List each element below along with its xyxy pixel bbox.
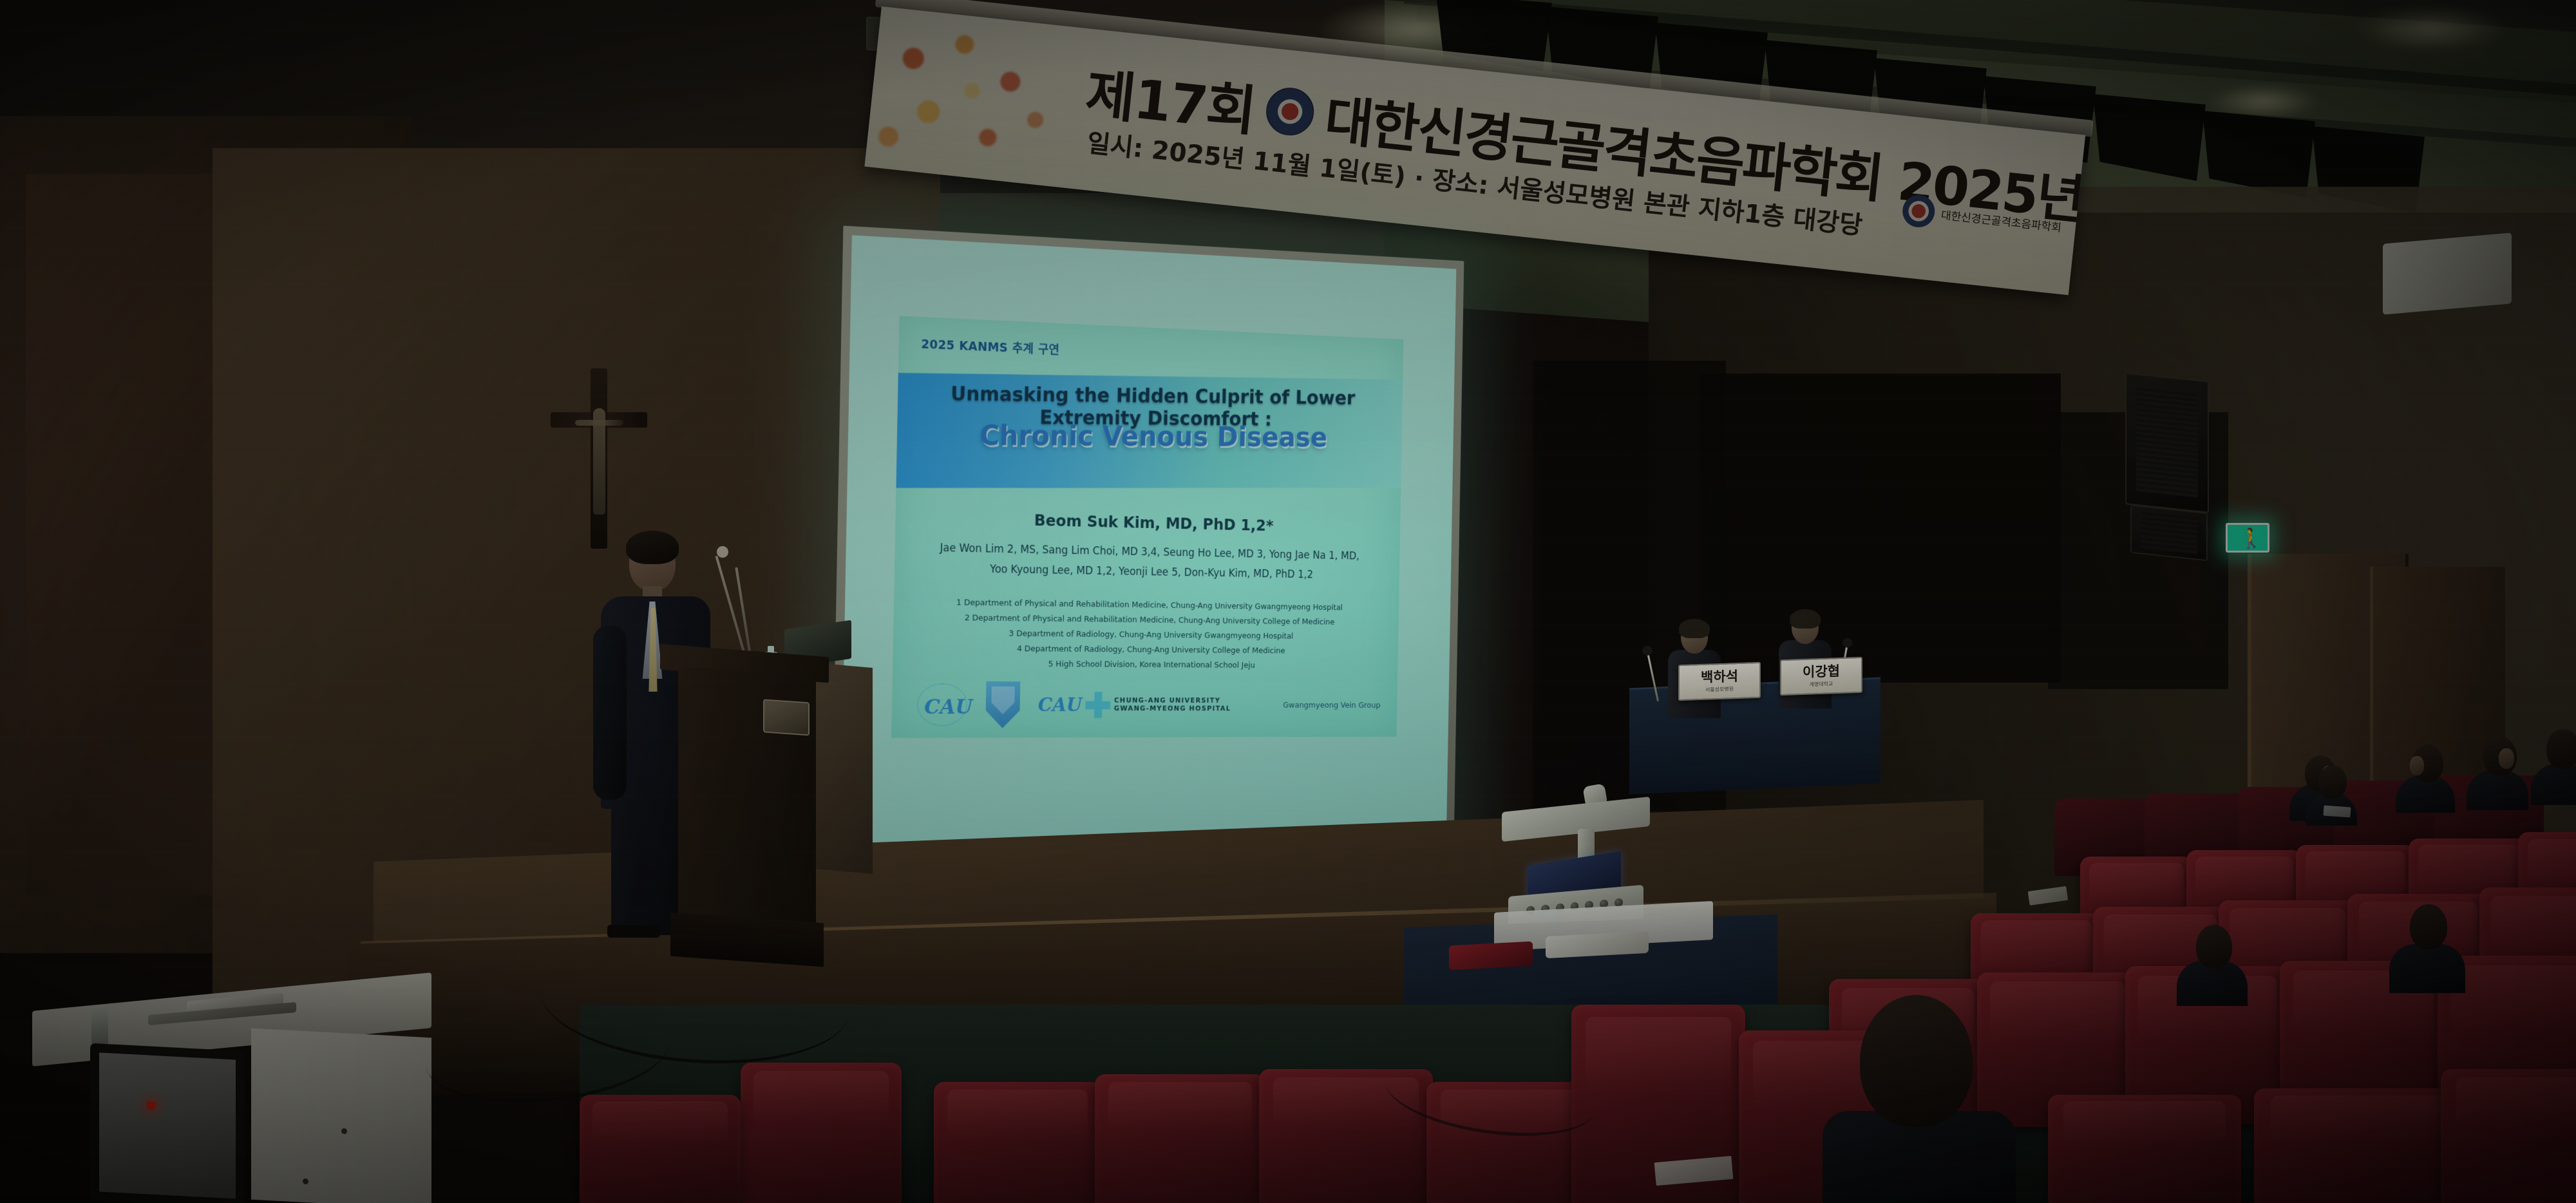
affiliation: 3 Department of Radiology, Chung-Ang Uni… (893, 628, 1398, 642)
crucifix-icon (551, 368, 647, 549)
nameplate-name: 이강협 (1803, 664, 1840, 679)
autumn-leaves-graphic (864, 6, 1086, 189)
audience-member (2177, 921, 2248, 1005)
affiliation: 2 Department of Physical and Rehabilitat… (894, 612, 1399, 627)
podium (667, 650, 828, 972)
audience-member (2389, 902, 2465, 992)
power-led-indicator (147, 1101, 155, 1110)
seat[interactable] (1095, 1074, 1265, 1203)
presenter-shoe (607, 925, 660, 938)
cau-seal-label: CAU (924, 694, 972, 719)
wall-recess (1700, 374, 2061, 683)
nameplate-name: 백하석 (1701, 669, 1738, 684)
nameplate-affiliation: 서울성모병원 (1705, 685, 1734, 694)
projection-screen: 2025 KANMS 추계 구연 Unmasking the Hidden Cu… (831, 225, 1464, 869)
society-emblem-icon (1901, 193, 1937, 229)
coauthor-line: Jae Won Lim 2, MS, Sang Lim Choi, MD 3,4… (895, 541, 1400, 564)
presentation-slide: 2025 KANMS 추계 구연 Unmasking the Hidden Cu… (891, 316, 1403, 737)
seat[interactable] (580, 1095, 741, 1203)
console-screw (341, 1128, 347, 1134)
seat[interactable] (741, 1063, 902, 1203)
handout-paper (2323, 806, 2351, 818)
seat[interactable] (2441, 1069, 2576, 1203)
screen-frame: 2025 KANMS 추계 구연 Unmasking the Hidden Cu… (831, 225, 1464, 869)
vein-group-label: Gwangmyeong Vein Group (1283, 701, 1381, 710)
hospital-logo: CAU CHUNG-ANG UNIVERSITY GWANG-MYEONG HO… (1037, 692, 1231, 718)
equipment-item (1449, 942, 1533, 971)
running-man-icon: 🚶 (2239, 529, 2257, 550)
ceiling-projector (2383, 232, 2512, 314)
audience-member-foreground (1823, 995, 2016, 1203)
nameplate: 백하석 서울성모병원 (1678, 662, 1761, 701)
ceiling-light (2357, 6, 2505, 52)
wall-left-panel (26, 174, 219, 895)
conference-hall-photo: 🚶 제17회 대한신경근골격초음파학회 2025년 추계학술대회 일시: 202… (0, 0, 2576, 1203)
affiliation: 5 High School Division, Korea Internatio… (893, 659, 1397, 671)
cau-shield-icon (985, 681, 1020, 728)
wall-speaker (2125, 372, 2209, 513)
exit-sign: 🚶 (2226, 523, 2269, 553)
hospital-name-line2: GWANG-MYEONG HOSPITAL (1114, 705, 1231, 714)
slide-session-tag: 2025 KANMS 추계 구연 (921, 335, 1059, 358)
console-monitor[interactable] (90, 1043, 245, 1203)
presenter-arm (593, 626, 627, 800)
cau-seal-icon: CAU (916, 683, 968, 726)
affiliation: 1 Department of Physical and Rehabilitat… (894, 597, 1399, 613)
seat[interactable] (934, 1082, 1101, 1203)
screen-surface: 2025 KANMS 추계 구연 Unmasking the Hidden Cu… (840, 235, 1457, 860)
audience-member (2467, 734, 2528, 810)
console-screw (303, 1179, 308, 1184)
audience-member (2531, 728, 2576, 805)
affiliation: 4 Department of Radiology, Chung-Ang Uni… (893, 643, 1398, 657)
nameplate-affiliation: 계명대학교 (1810, 680, 1833, 688)
av-control-console[interactable] (32, 992, 431, 1203)
hospital-cau-label: CAU (1038, 694, 1083, 715)
kanms-emblem-icon (1264, 85, 1316, 137)
slide-title-secondary: Chronic Venous Disease (897, 419, 1403, 453)
console-body (251, 1028, 431, 1203)
presenting-author: Beom Suk Kim, MD, PhD 1,2* (895, 507, 1400, 537)
microphone-head-icon (717, 546, 728, 558)
console-bottle (91, 1005, 108, 1048)
nameplate: 이강협 계명대학교 (1780, 657, 1862, 696)
medical-cross-icon (1085, 692, 1111, 718)
presenter-hair (626, 531, 679, 564)
seat[interactable] (2048, 1095, 2241, 1203)
slide-logo-row: CAU CAU CHUNG-ANG UNIVERSITY GWANG-MYEON… (916, 679, 1381, 730)
coauthor-line: Yoo Kyoung Lee, MD 1,2, Yeonji Lee 5, Do… (895, 562, 1399, 583)
audience-member (2396, 741, 2455, 813)
ultrasound-monitor (1502, 797, 1650, 842)
podium-control-panel[interactable] (763, 699, 810, 735)
seat[interactable] (2254, 1088, 2460, 1203)
society-logo-text: 대한신경근골격초음파학회 (1940, 205, 2062, 234)
wall-speaker (2130, 505, 2208, 562)
